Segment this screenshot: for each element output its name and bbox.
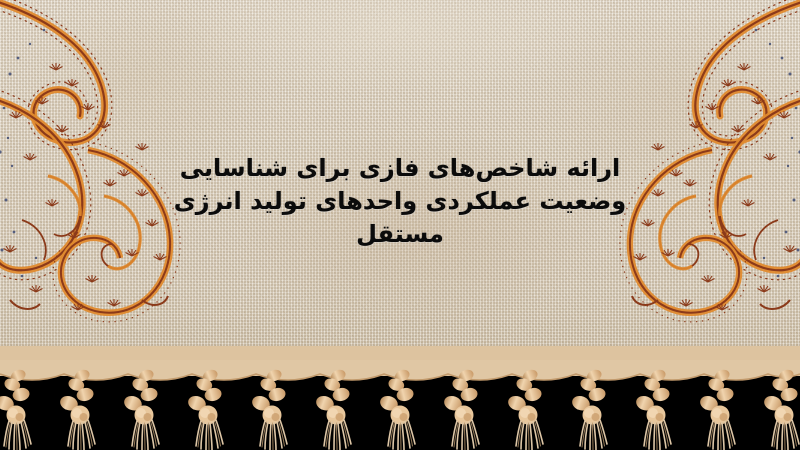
title-line-2: وضعیت عملکردی واحدهای تولید انرژی — [0, 185, 800, 218]
title-line-1: ارائه شاخص‌های فازی برای شناسایی — [0, 152, 800, 185]
slide-title: ارائه شاخص‌های فازی برای شناسایی وضعیت ع… — [0, 152, 800, 251]
tassel-fringe — [0, 360, 800, 450]
title-line-3: مستقل — [0, 218, 800, 251]
title-slide: ارائه شاخص‌های فازی برای شناسایی وضعیت ع… — [0, 0, 800, 450]
